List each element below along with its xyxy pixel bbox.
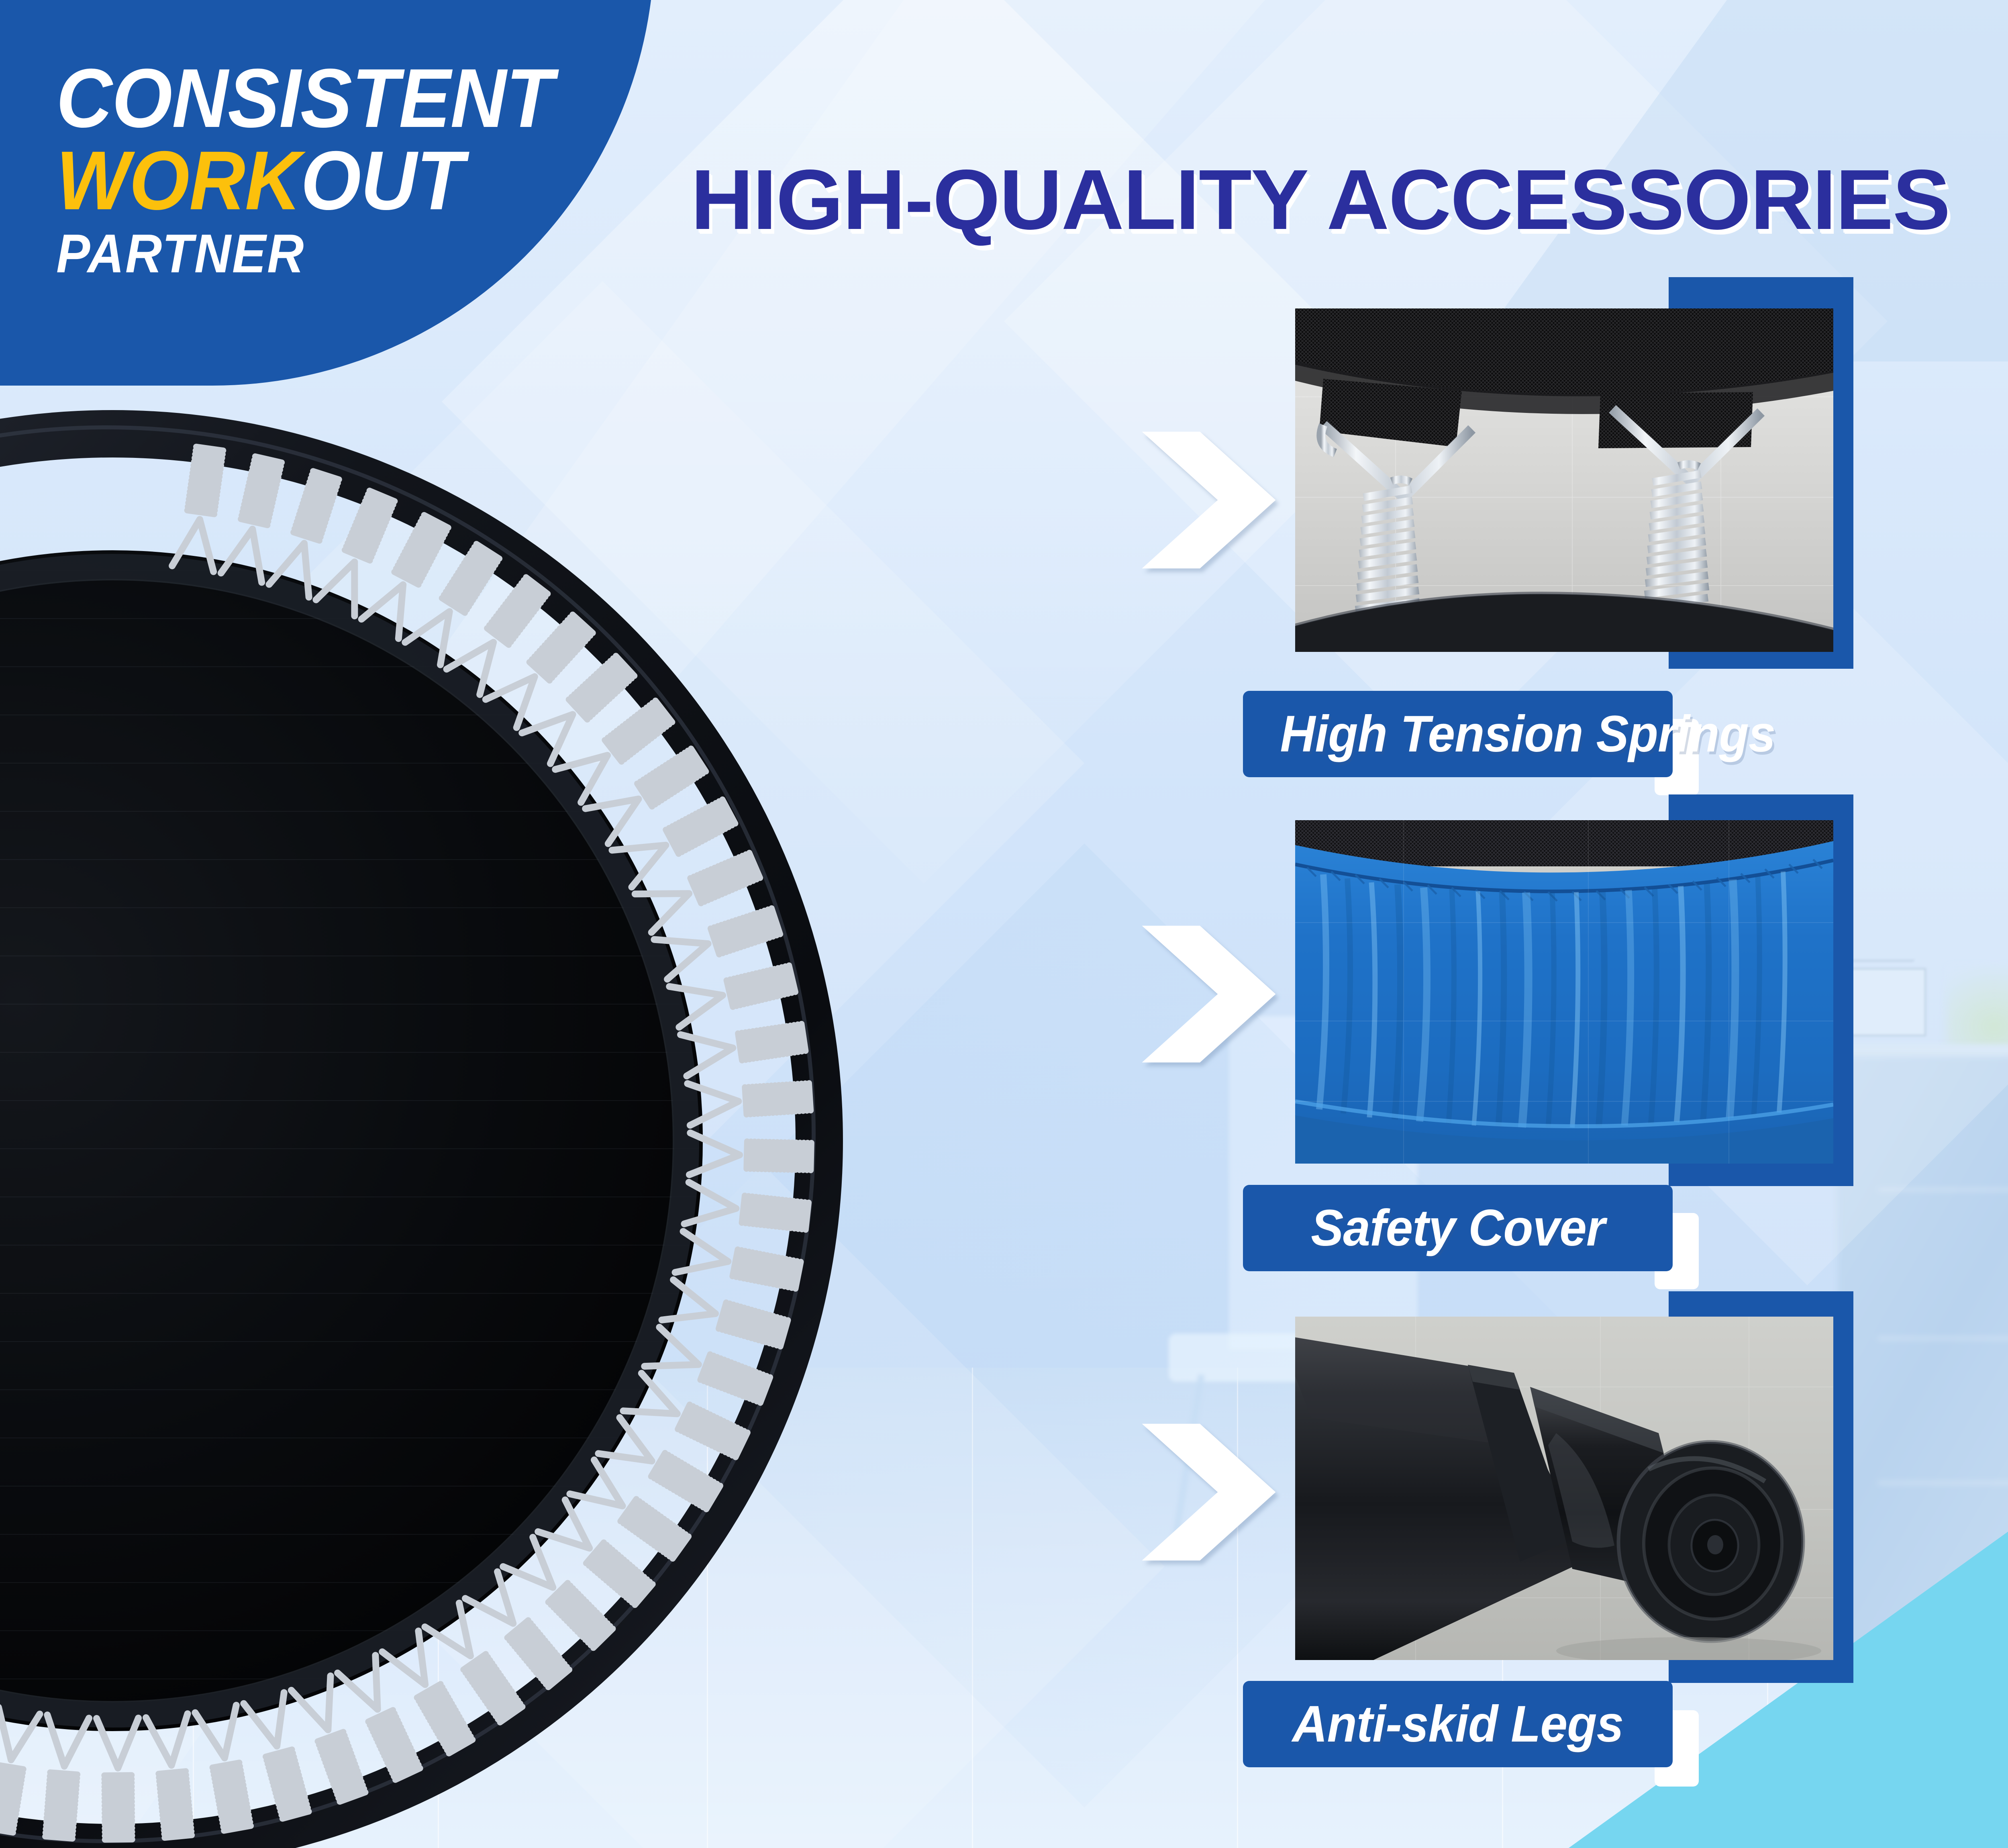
photo-high-tension-springs xyxy=(1295,308,1833,652)
chevron-right-icon xyxy=(1133,426,1285,574)
label-anti-skid-legs[interactable]: Anti-skid Legs xyxy=(1243,1681,1673,1767)
photo-anti-skid-legs xyxy=(1295,1317,1833,1660)
hero-badge-text: CONSISTENT WORKOUT PARTNER xyxy=(56,60,659,279)
hero-word-out: OUT xyxy=(301,134,464,227)
label-text-cover: Safety Cover xyxy=(1311,1199,1605,1258)
page-title: HIGH-QUALITY ACCESSORIES xyxy=(691,151,1950,249)
product-infographic-poster: Upper Bounce CONSISTENT WORKOUT PARTNER … xyxy=(0,0,2008,1848)
hero-line-workout: WORKOUT xyxy=(56,143,616,219)
chevron-right-icon xyxy=(1133,1418,1285,1566)
hero-word-work: WORK xyxy=(56,134,301,227)
label-text-legs: Anti-skid Legs xyxy=(1292,1695,1623,1754)
photo-safety-cover xyxy=(1295,820,1833,1164)
label-text-springs: High Tension Springs xyxy=(1280,704,1775,764)
trampoline-product-image: Upper Bounce xyxy=(0,353,900,1848)
chevron-right-icon xyxy=(1133,920,1285,1068)
hero-line-consistent: CONSISTENT xyxy=(56,60,616,137)
label-high-tension-springs[interactable]: High Tension Springs xyxy=(1243,691,1673,777)
label-safety-cover[interactable]: Safety Cover xyxy=(1243,1185,1673,1271)
hero-line-partner: PARTNER xyxy=(56,229,616,279)
